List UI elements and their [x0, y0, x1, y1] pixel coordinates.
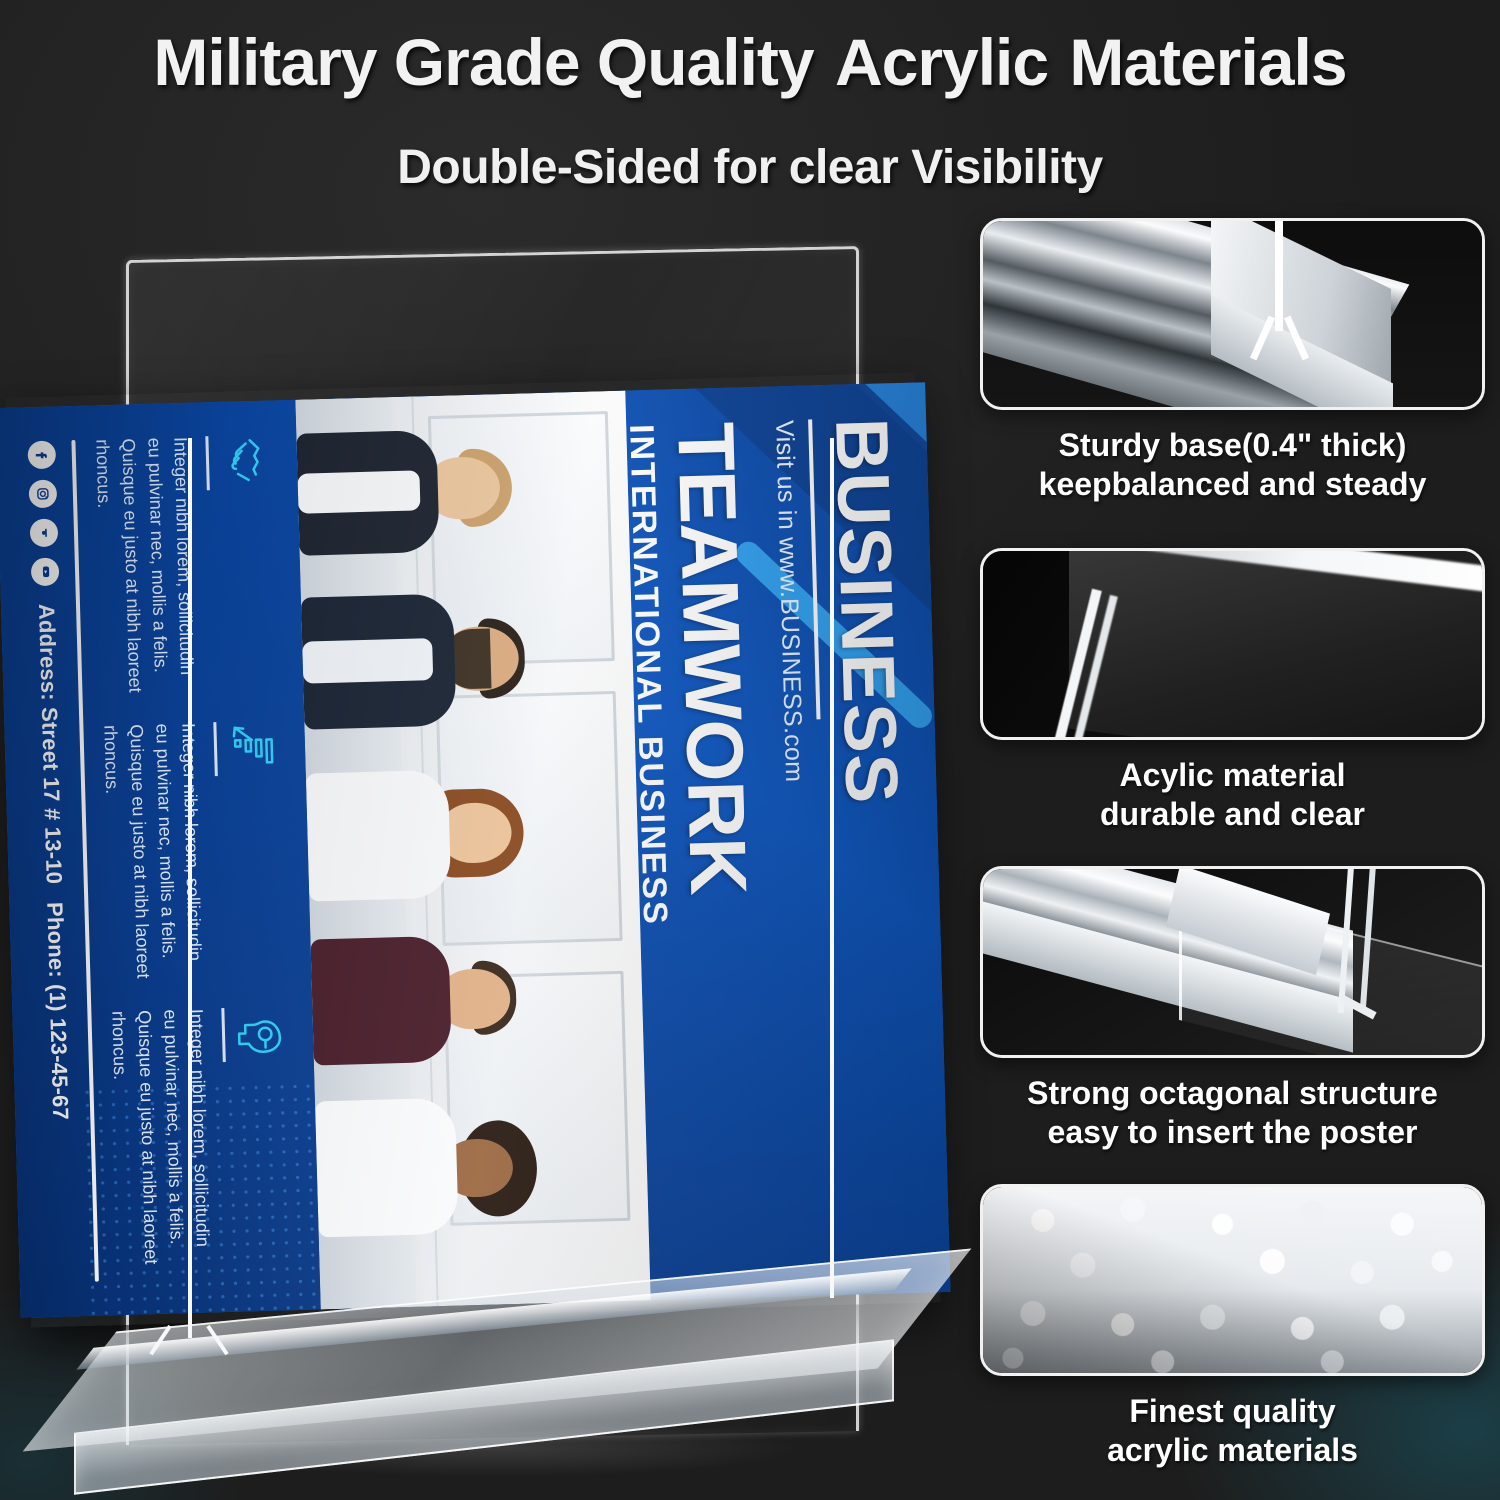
- dimension-callout-line: [188, 438, 192, 1338]
- poster-features-band: Integer nibh lorem, sollicitudin eu pulv…: [0, 400, 321, 1318]
- feature-caption: Acylic material durable and clear: [975, 756, 1490, 834]
- instagram-icon[interactable]: [28, 479, 57, 508]
- handshake-icon: [220, 434, 271, 485]
- headline-highlight: Acrylic: [831, 24, 1052, 100]
- bar-chart-growth-icon: [228, 720, 279, 771]
- thickness-arrow-icon: [1275, 221, 1283, 331]
- headline-text-after: Materials: [1052, 25, 1346, 99]
- facebook-icon[interactable]: [27, 441, 56, 470]
- feature-caption-line1: Sturdy base(0.4" thick): [975, 426, 1490, 465]
- pellets-shading: [983, 1187, 1482, 1373]
- feature-caption: Strong octagonal structure easy to inser…: [975, 1074, 1490, 1152]
- hero-product-shot: BUSINESS Visit us in www.BUSINESS.com TE…: [0, 215, 965, 1500]
- poster-team-photo: [295, 391, 650, 1310]
- poster-feature-text: Integer nibh lorem, sollicitudin eu pulv…: [105, 1008, 217, 1273]
- feature-caption: Sturdy base(0.4" thick) keepbalanced and…: [975, 426, 1490, 504]
- twitter-icon[interactable]: [29, 518, 58, 547]
- feature-caption: Finest quality acrylic materials: [975, 1392, 1490, 1470]
- feature-card-finest-quality: Finest quality acrylic materials: [975, 1184, 1490, 1470]
- poster-feature-item: Integer nibh lorem, sollicitudin eu pulv…: [105, 1006, 294, 1273]
- acrylic-base-slab-photo: [980, 218, 1485, 410]
- poster-title-band: BUSINESS Visit us in www.BUSINESS.com TE…: [625, 382, 950, 1300]
- poster-brand: BUSINESS: [824, 417, 921, 1261]
- header: Military Grade Quality Acrylic Materials…: [0, 0, 1500, 215]
- team-member: [306, 762, 524, 908]
- poster-feature-item: Integer nibh lorem, sollicitudin eu pulv…: [89, 434, 278, 701]
- team-member: [301, 583, 529, 739]
- base-reflection: [68, 1418, 968, 1492]
- acrylic-base: [68, 1290, 928, 1495]
- poster-phone: Phone: (1) 123-45-67: [41, 902, 73, 1121]
- feature-card-acrylic-material: Acylic material durable and clear: [975, 548, 1490, 834]
- team-member: [315, 1094, 533, 1242]
- poster-feature-text: Integer nibh lorem, sollicitudin eu pulv…: [89, 437, 201, 702]
- feature-divider: [221, 1008, 226, 1062]
- acrylic-pellets-photo: [980, 1184, 1485, 1376]
- feature-divider: [205, 436, 210, 490]
- head-idea-icon: [236, 1006, 287, 1057]
- octagonal-structure-photo: [980, 866, 1485, 1058]
- feature-card-octagonal-structure: Strong octagonal structure easy to inser…: [975, 866, 1490, 1152]
- feature-caption-line2: keepbalanced and steady: [975, 465, 1490, 504]
- headline-text-before: Military Grade Quality: [153, 25, 831, 99]
- feature-caption-line2: durable and clear: [975, 795, 1490, 834]
- brand-divider: [808, 419, 820, 719]
- dimension-callout-line: [830, 438, 834, 1298]
- feature-caption-line2: easy to insert the poster: [975, 1113, 1490, 1152]
- feature-caption-line1: Finest quality: [975, 1392, 1490, 1431]
- feature-card-sturdy-base: Sturdy base(0.4" thick) keepbalanced and…: [975, 218, 1490, 504]
- poster-address: Address: Street 17 # 13-10: [33, 603, 67, 884]
- acrylic-bent-corner-photo: [980, 548, 1485, 740]
- poster-contact-bar: Address: Street 17 # 13-10 Phone: (1) 12…: [27, 441, 78, 1283]
- youtube-icon[interactable]: [30, 557, 59, 586]
- feature-divider: [213, 722, 218, 776]
- inserted-poster: BUSINESS Visit us in www.BUSINESS.com TE…: [5, 372, 941, 1327]
- page-title: Military Grade Quality Acrylic Materials: [0, 24, 1500, 100]
- product-feature-graphic: Military Grade Quality Acrylic Materials…: [0, 0, 1500, 1500]
- team-member: [296, 422, 510, 568]
- feature-caption-line1: Acylic material: [975, 756, 1490, 795]
- feature-list: Sturdy base(0.4" thick) keepbalanced and…: [975, 218, 1490, 1500]
- feature-caption-line2: acrylic materials: [975, 1431, 1490, 1470]
- poster-headline: TEAMWORK: [666, 421, 766, 1265]
- team-member: [310, 930, 522, 1070]
- page-subtitle: Double-Sided for clear Visibility: [0, 140, 1500, 195]
- feature-caption-line1: Strong octagonal structure: [975, 1074, 1490, 1113]
